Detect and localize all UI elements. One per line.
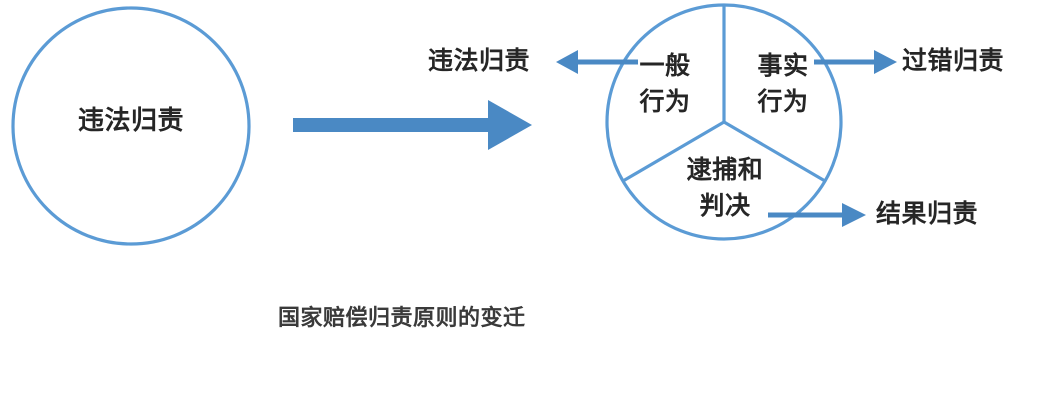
pie-segment-label-general-line2: 行为 xyxy=(612,84,718,120)
pie-segment-label-general-line1: 一般 xyxy=(612,48,718,84)
source-circle-label: 违法归责 xyxy=(0,108,262,134)
pie-segment-label-factual-line2: 行为 xyxy=(730,84,836,120)
pie-segment-label-factual: 事实 行为 xyxy=(730,48,836,121)
pie-segment-label-arrest-line1: 逮捕和 xyxy=(655,152,795,188)
outcome-label-illegal: 违法归责 xyxy=(428,48,560,73)
figure-caption: 国家赔偿归责原则的变迁 xyxy=(278,308,578,330)
pie-segment-label-general: 一般 行为 xyxy=(612,48,718,121)
pie-segment-label-factual-line1: 事实 xyxy=(730,48,836,84)
outcome-label-fault: 过错归责 xyxy=(902,48,1038,73)
pie-segment-label-arrest-line2: 判决 xyxy=(655,188,795,224)
diagram-canvas: 违法归责 一般 行为 事实 行为 逮捕和 判决 违法归责 过错归责 结果归责 国… xyxy=(0,0,1040,410)
outcome-label-result: 结果归责 xyxy=(876,201,1012,226)
transition-arrow-icon xyxy=(293,100,532,150)
pie-segment-label-arrest: 逮捕和 判决 xyxy=(655,152,795,225)
